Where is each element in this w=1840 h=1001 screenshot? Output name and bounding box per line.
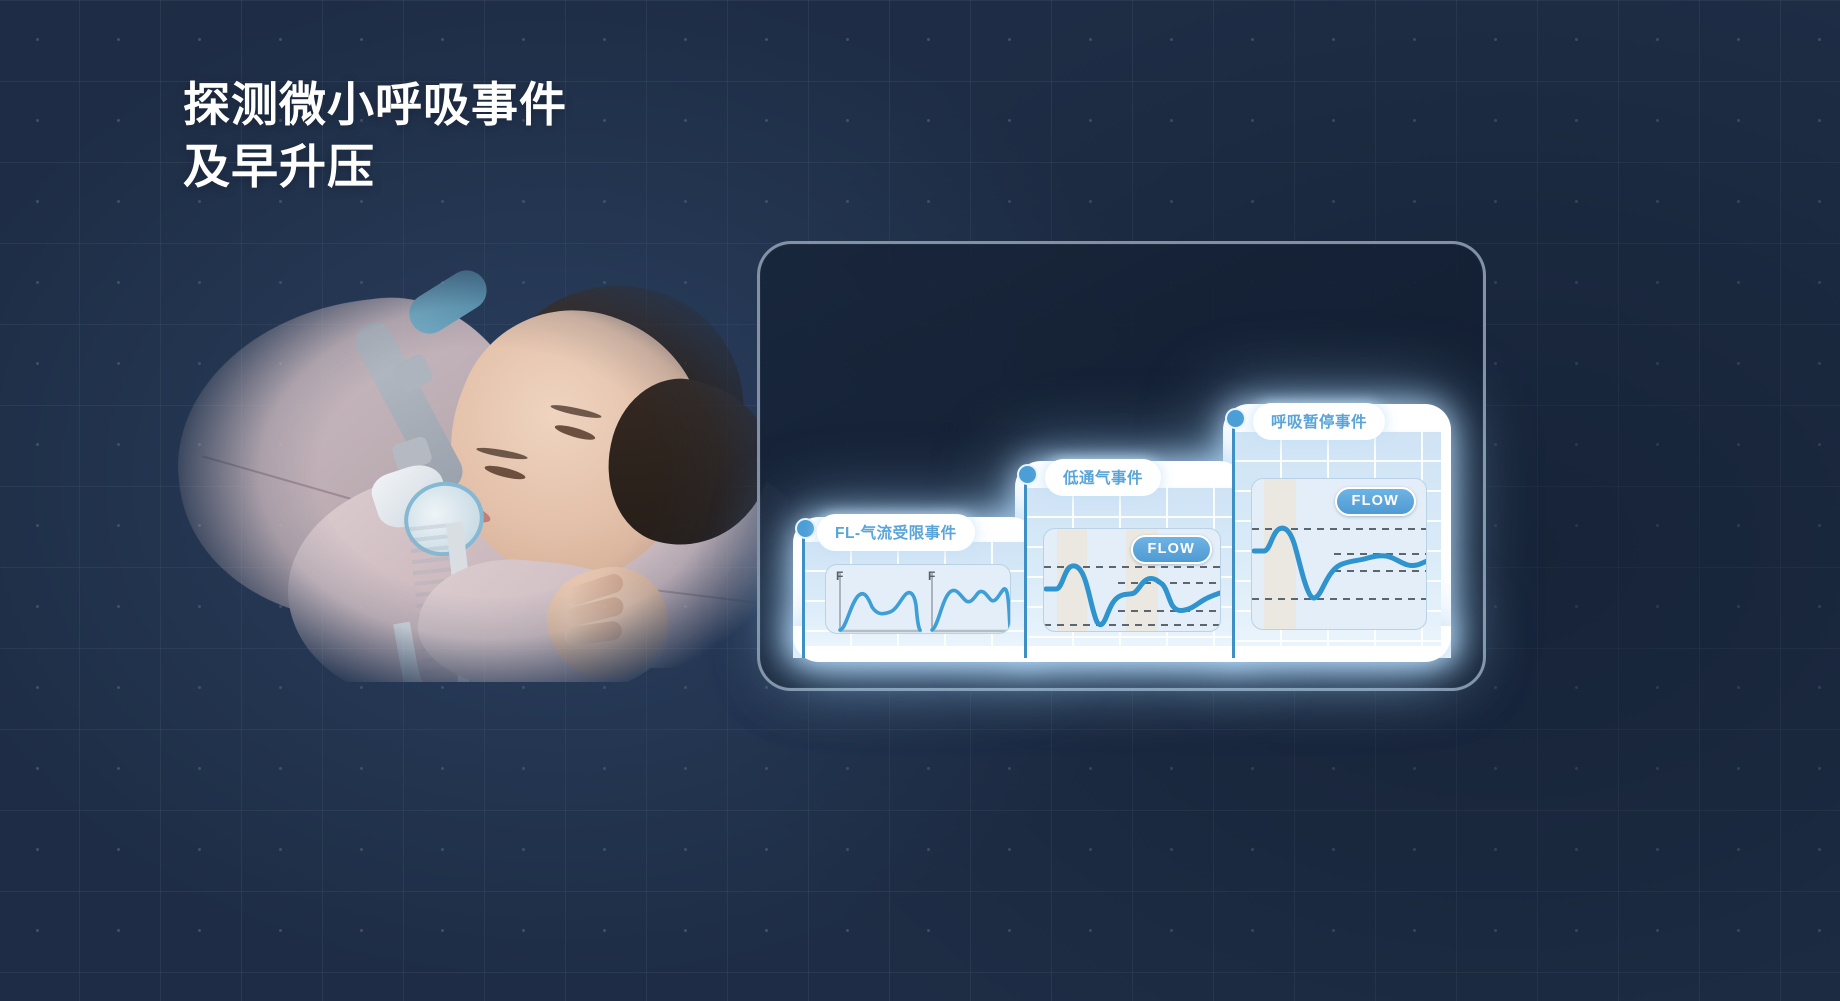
marker-dot-apnea [1225, 408, 1246, 429]
chart-card-apnea: FLOW [1251, 478, 1427, 630]
slide-stage: 探测微小呼吸事件 及早升压 [0, 0, 1840, 1001]
marker-dot-flow-limitation [795, 518, 816, 539]
flow-limitation-waveform [826, 565, 1011, 634]
flow-badge-apnea: FLOW [1335, 487, 1416, 516]
flow-badge-hypopnea: FLOW [1131, 535, 1212, 564]
marker-label-f-1: F [836, 569, 843, 583]
panel-hypopnea[interactable]: FLOW [1025, 486, 1235, 646]
marker-dot-hypopnea [1017, 464, 1038, 485]
chart-card-flow-limitation: F F [825, 564, 1011, 634]
tablet-device: F F FLOW [757, 241, 1486, 691]
marker-stem-apnea [1232, 416, 1235, 658]
sleeping-patient-photo [168, 262, 788, 682]
page-title: 探测微小呼吸事件 及早升压 [183, 74, 567, 198]
label-flow-limitation[interactable]: FL-气流受限事件 [817, 514, 975, 551]
marker-label-f-2: F [928, 569, 935, 583]
marker-stem-flow-limitation [802, 526, 805, 658]
page-title-line-2: 及早升压 [183, 136, 567, 198]
marker-stem-hypopnea [1024, 472, 1027, 658]
chart-card-hypopnea: FLOW [1043, 528, 1221, 632]
stepped-chart-group: F F FLOW [793, 326, 1451, 658]
label-hypopnea[interactable]: 低通气事件 [1045, 459, 1161, 496]
panel-flow-limitation[interactable]: F F [803, 540, 1027, 646]
label-apnea[interactable]: 呼吸暂停事件 [1253, 403, 1385, 440]
page-title-line-1: 探测微小呼吸事件 [183, 74, 567, 136]
panel-apnea[interactable]: FLOW [1233, 430, 1441, 646]
